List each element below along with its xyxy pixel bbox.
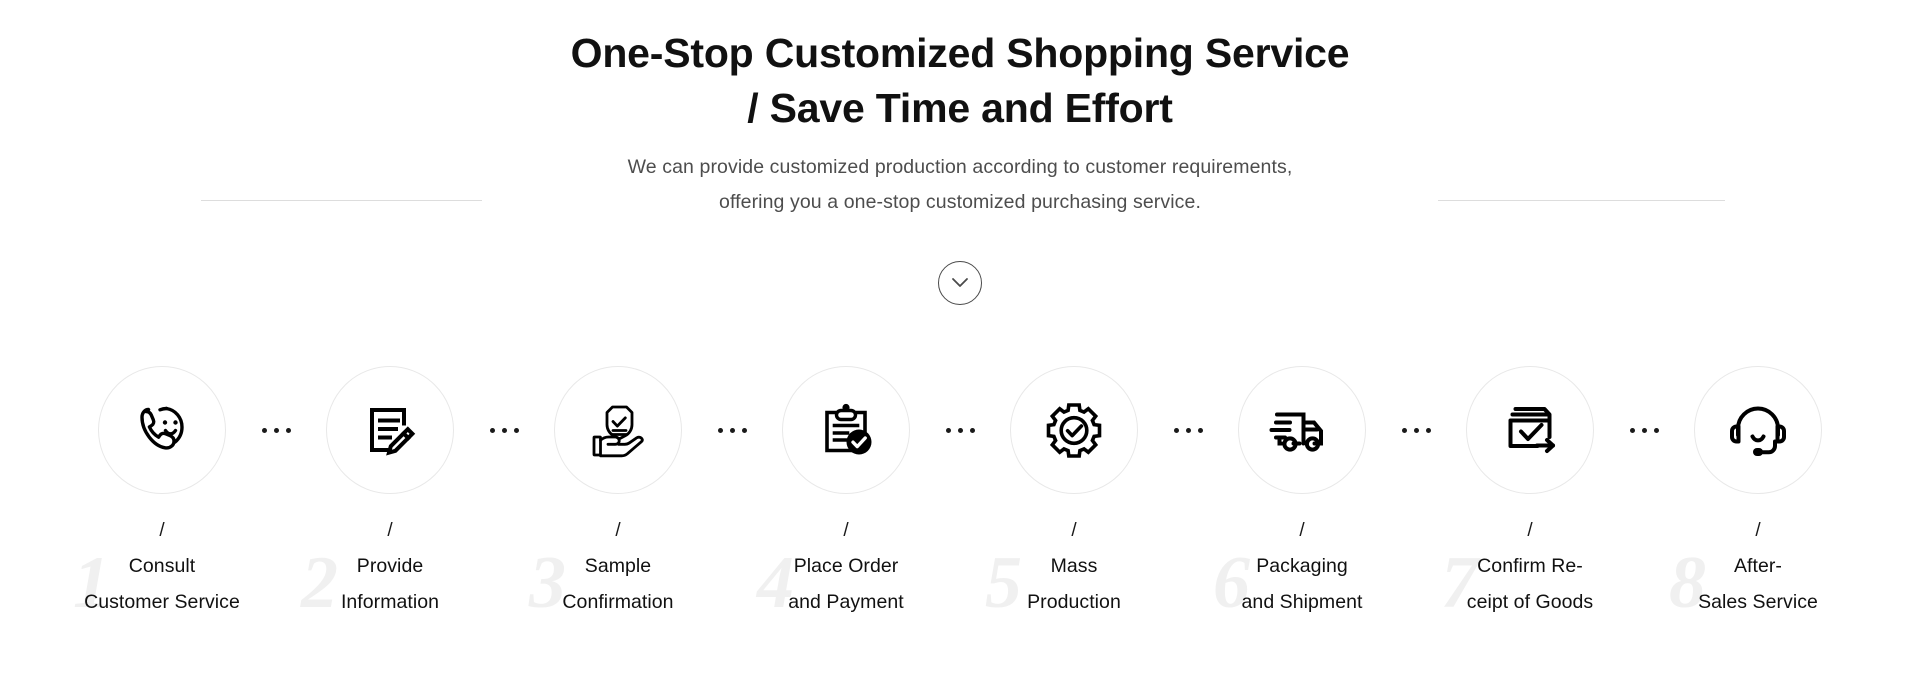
process-step-2[interactable]: 2 / Provide Information (306, 366, 474, 620)
step-caption: 8 / After- Sales Service (1674, 520, 1842, 620)
step-label-line-1: After- (1674, 548, 1842, 584)
step-slash: / (78, 520, 246, 542)
page-title-line-2: / Save Time and Effort (0, 81, 1920, 136)
page-title-line-1: One-Stop Customized Shopping Service (571, 30, 1350, 76)
step-separator-dots (702, 366, 762, 494)
process-step-5[interactable]: 5 / Mass Production (990, 366, 1158, 620)
step-caption: 3 / Sample Confirmation (534, 520, 702, 620)
process-step-1[interactable]: 1 / Consult Customer Service (78, 366, 246, 620)
step-label: After- Sales Service (1674, 548, 1842, 620)
step-slash: / (762, 520, 930, 542)
step-caption: 6 / Packaging and Shipment (1218, 520, 1386, 620)
step-separator-dots (246, 366, 306, 494)
step-caption: 5 / Mass Production (990, 520, 1158, 620)
step-caption: 1 / Consult Customer Service (78, 520, 246, 620)
step-caption: 7 / Confirm Re- ceipt of Goods (1446, 520, 1614, 620)
page-subtitle-line-1: We can provide customized production acc… (0, 150, 1920, 185)
step-label: Packaging and Shipment (1218, 548, 1386, 620)
page-subtitle-line-2: offering you a one-stop customized purch… (0, 185, 1920, 220)
step-label-line-1: Confirm Re- (1446, 548, 1614, 584)
step-label-line-2: and Payment (762, 584, 930, 620)
step-icon-circle (782, 366, 910, 494)
step-icon-circle (1238, 366, 1366, 494)
step-slash: / (1674, 520, 1842, 542)
step-label-line-1: Mass (990, 548, 1158, 584)
step-separator-dots (1158, 366, 1218, 494)
decorative-rule-right (1438, 200, 1725, 201)
step-label-line-2: and Shipment (1218, 584, 1386, 620)
process-step-7[interactable]: 7 / Confirm Re- ceipt of Goods (1446, 366, 1614, 620)
scroll-down-button-wrap (938, 261, 982, 305)
step-icon-circle (326, 366, 454, 494)
step-caption: 4 / Place Order and Payment (762, 520, 930, 620)
step-label-line-1: Provide (306, 548, 474, 584)
phone-smiley-icon (127, 395, 197, 465)
step-icon-circle (1466, 366, 1594, 494)
step-label-line-2: Confirmation (534, 584, 702, 620)
step-label-line-2: Sales Service (1674, 584, 1842, 620)
delivery-truck-icon (1266, 394, 1338, 466)
process-steps: 1 / Consult Customer Service (0, 366, 1920, 620)
step-separator-dots (1386, 366, 1446, 494)
step-separator-dots (474, 366, 534, 494)
process-step-8[interactable]: 8 / After- Sales Service (1674, 366, 1842, 620)
chevron-down-icon (951, 277, 969, 289)
step-icon-circle (98, 366, 226, 494)
step-slash: / (1446, 520, 1614, 542)
step-label: Consult Customer Service (78, 548, 246, 620)
step-label-line-2: Information (306, 584, 474, 620)
step-slash: / (306, 520, 474, 542)
step-label: Mass Production (990, 548, 1158, 620)
step-label: Place Order and Payment (762, 548, 930, 620)
step-separator-dots (1614, 366, 1674, 494)
step-slash: / (1218, 520, 1386, 542)
clipboard-check-icon (811, 395, 881, 465)
page-root: One-Stop Customized Shopping Service / S… (0, 0, 1920, 673)
step-label-line-2: Production (990, 584, 1158, 620)
document-pencil-icon (355, 395, 425, 465)
step-label-line-1: Consult (78, 548, 246, 584)
gear-check-icon (1039, 395, 1109, 465)
step-label-line-1: Packaging (1218, 548, 1386, 584)
box-check-arrow-icon (1495, 395, 1565, 465)
hand-shield-check-icon (582, 394, 654, 466)
step-label-line-1: Sample (534, 548, 702, 584)
step-icon-circle (554, 366, 682, 494)
step-icon-circle (1694, 366, 1822, 494)
step-label: Provide Information (306, 548, 474, 620)
process-step-6[interactable]: 6 / Packaging and Shipment (1218, 366, 1386, 620)
process-step-4[interactable]: 4 / Place Order and Payment (762, 366, 930, 620)
step-caption: 2 / Provide Information (306, 520, 474, 620)
scroll-down-button[interactable] (938, 261, 982, 305)
headset-icon (1723, 395, 1793, 465)
step-label-line-2: ceipt of Goods (1446, 584, 1614, 620)
step-label: Sample Confirmation (534, 548, 702, 620)
header-section: One-Stop Customized Shopping Service / S… (0, 0, 1920, 220)
step-slash: / (990, 520, 1158, 542)
step-slash: / (534, 520, 702, 542)
step-label: Confirm Re- ceipt of Goods (1446, 548, 1614, 620)
page-title: One-Stop Customized Shopping Service / S… (0, 0, 1920, 136)
process-step-3[interactable]: 3 / Sample Confirmation (534, 366, 702, 620)
step-icon-circle (1010, 366, 1138, 494)
step-label-line-2: Customer Service (78, 584, 246, 620)
page-subtitle: We can provide customized production acc… (0, 150, 1920, 220)
step-label-line-1: Place Order (762, 548, 930, 584)
step-separator-dots (930, 366, 990, 494)
decorative-rule-left (201, 200, 482, 201)
